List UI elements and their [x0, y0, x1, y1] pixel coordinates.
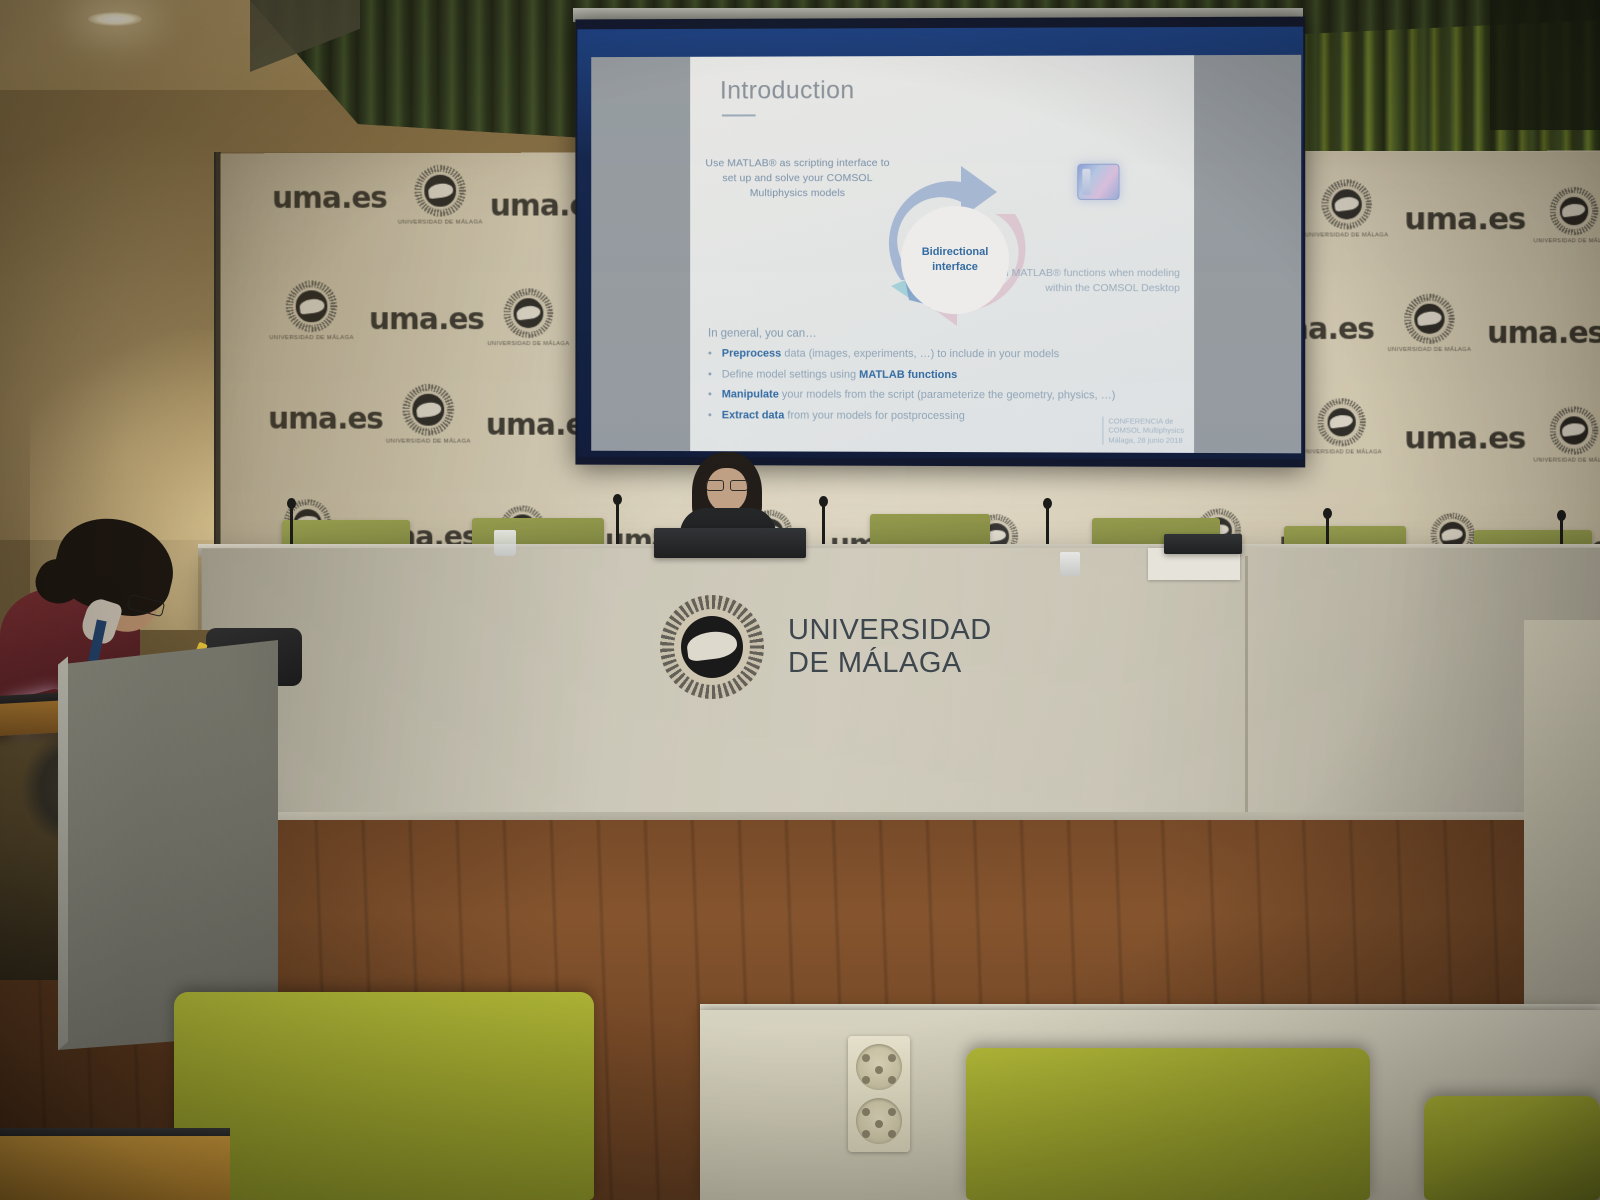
water-glass-left — [494, 530, 516, 556]
second-laptop — [1164, 534, 1242, 554]
partition-edge — [58, 640, 68, 1050]
grey-acoustic-partition — [58, 640, 278, 1050]
water-glass-right — [1060, 552, 1080, 576]
podium-uma-logo: UNIVERSIDAD DE MÁLAGA — [660, 592, 1000, 702]
foreground-chair-left — [174, 992, 594, 1200]
socket-upper[interactable] — [856, 1044, 902, 1090]
podium-name-line-2: DE MÁLAGA — [788, 647, 992, 680]
uma-seal-icon — [660, 595, 764, 699]
double-schuko-socket-icon[interactable] — [848, 1036, 910, 1152]
socket-lower[interactable] — [856, 1098, 902, 1144]
foreground-desk-apron — [0, 1136, 230, 1200]
presenter-laptop — [654, 528, 806, 558]
foreground-chair-right — [1424, 1096, 1600, 1200]
podium-name-line-1: UNIVERSIDAD — [788, 614, 992, 647]
podium-university-name: UNIVERSIDAD DE MÁLAGA — [788, 614, 992, 680]
foreground-chair-center — [966, 1048, 1370, 1200]
conference-room-photo: uma.esUNIVERSIDAD DE MÁLAGAuma.esUNIVERS… — [0, 0, 1600, 1200]
right-wall-strip — [1524, 620, 1600, 1040]
